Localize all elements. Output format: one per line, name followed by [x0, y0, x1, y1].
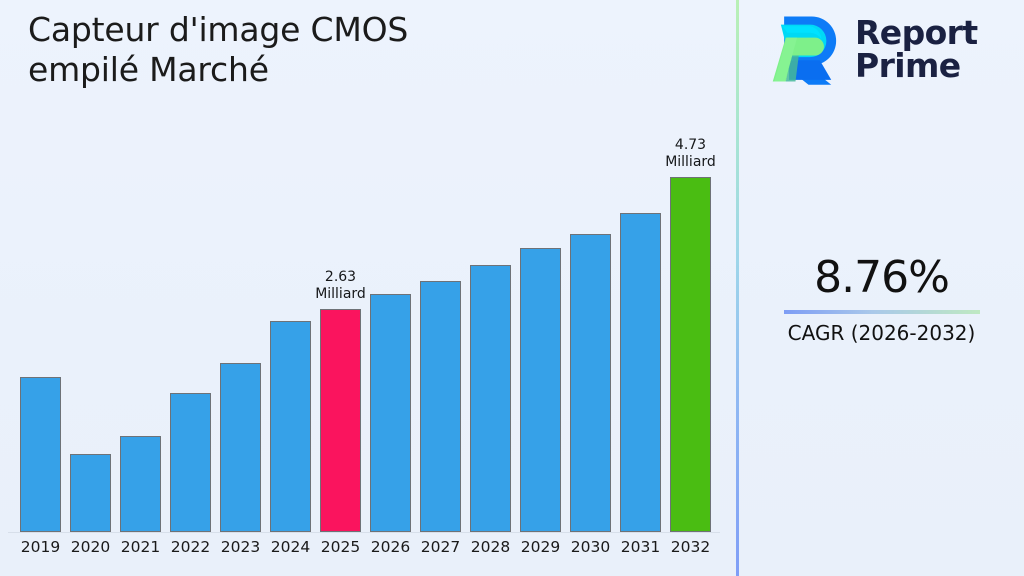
- bar-2023: [220, 363, 261, 532]
- x-axis-label-2027: 2027: [413, 538, 469, 556]
- bar-2029: [520, 248, 561, 532]
- x-axis-label-2023: 2023: [213, 538, 269, 556]
- x-axis-label-2020: 2020: [63, 538, 119, 556]
- bar-2021: [120, 436, 161, 532]
- bar-2027: [420, 281, 461, 532]
- cagr-value: 8.76%: [739, 252, 1024, 304]
- page-root: Capteur d'image CMOS empilé Marché 20192…: [0, 0, 1024, 576]
- bar-2024: [270, 321, 311, 532]
- bar-chart-plot: 20192020202120222023202420252.63Milliard…: [0, 0, 737, 576]
- report-prime-r-logo-icon: [761, 10, 843, 88]
- x-axis-label-2019: 2019: [13, 538, 69, 556]
- x-axis-line: [8, 532, 720, 533]
- bar-2026: [370, 294, 411, 532]
- bar-2019: [20, 377, 61, 532]
- x-axis-label-2031: 2031: [613, 538, 669, 556]
- x-axis-label-2029: 2029: [513, 538, 569, 556]
- bar-value-amount-2032: 4.73: [646, 137, 736, 154]
- x-axis-label-2028: 2028: [463, 538, 519, 556]
- bar-2030: [570, 234, 611, 532]
- bar-2028: [470, 265, 511, 532]
- bar-value-amount-2025: 2.63: [296, 269, 386, 286]
- x-axis-label-2025: 2025: [313, 538, 369, 556]
- bar-value-unit-2032: Milliard: [646, 154, 736, 171]
- x-axis-label-2032: 2032: [663, 538, 719, 556]
- cagr-caption: CAGR (2026-2032): [739, 320, 1024, 346]
- brand-panel: Report Prime 8.76% CAGR (2026-2032): [739, 0, 1024, 576]
- brand-logo: Report Prime: [761, 10, 978, 88]
- bar-2020: [70, 454, 111, 532]
- chart-panel: Capteur d'image CMOS empilé Marché 20192…: [0, 0, 737, 576]
- cagr-block: 8.76% CAGR (2026-2032): [739, 252, 1024, 346]
- bar-2031: [620, 213, 661, 532]
- brand-name: Report Prime: [855, 16, 978, 82]
- x-axis-label-2024: 2024: [263, 538, 319, 556]
- x-axis-label-2022: 2022: [163, 538, 219, 556]
- x-axis-label-2021: 2021: [113, 538, 169, 556]
- bar-value-label-2032: 4.73Milliard: [646, 137, 736, 171]
- x-axis-label-2030: 2030: [563, 538, 619, 556]
- cagr-divider-rule: [784, 310, 980, 314]
- brand-name-line2: Prime: [855, 46, 961, 85]
- x-axis-label-2026: 2026: [363, 538, 419, 556]
- bar-2025: [320, 309, 361, 532]
- bar-2022: [170, 393, 211, 532]
- bar-2032: [670, 177, 711, 532]
